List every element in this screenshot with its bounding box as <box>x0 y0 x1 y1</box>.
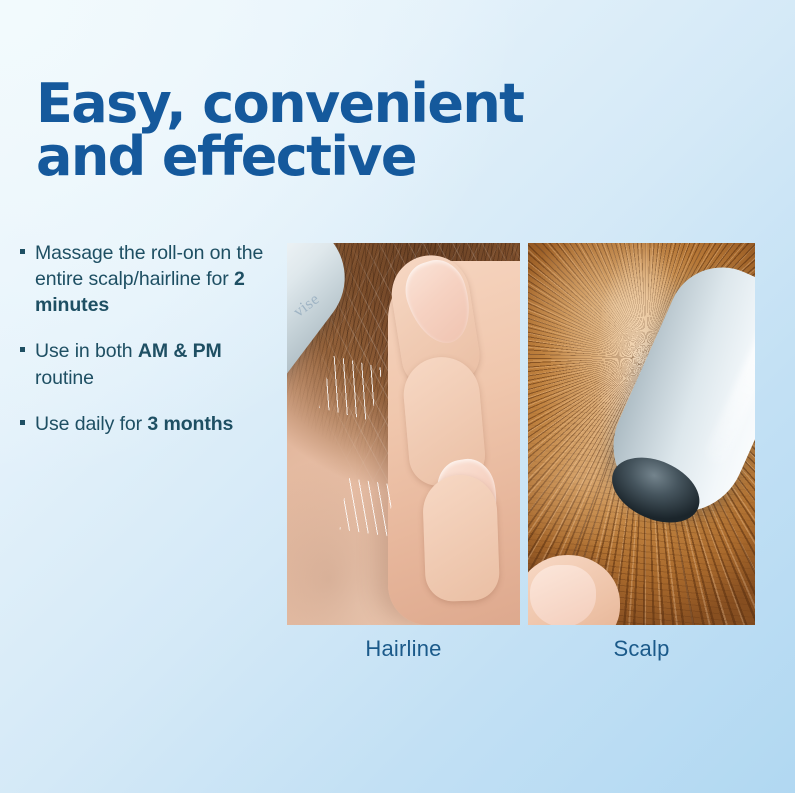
bullet-square-icon <box>20 347 25 352</box>
caption-hairline: Hairline <box>287 636 520 662</box>
instruction-list: Massage the roll-on on the entire scalp/… <box>18 240 280 437</box>
list-item-text: Use in both AM & PM routine <box>35 340 222 388</box>
list-item-text: Massage the roll-on on the entire scalp/… <box>35 242 263 316</box>
hair-strand-overlay <box>340 478 395 536</box>
headline-line-2: and effective <box>36 131 556 184</box>
bullet-square-icon <box>20 420 25 425</box>
page-title: Easy, convenient and effective <box>36 78 556 184</box>
list-item-text: Use daily for 3 months <box>35 413 233 435</box>
list-item: Massage the roll-on on the entire scalp/… <box>18 240 280 318</box>
fingernail <box>398 253 481 351</box>
hand <box>388 261 520 625</box>
infographic-page: Easy, convenient and effective Massage t… <box>0 0 795 793</box>
finger <box>401 354 488 488</box>
photo-hairline: vise <box>287 243 520 625</box>
list-item: Use daily for 3 months <box>18 411 280 437</box>
photo-scalp <box>528 243 755 625</box>
caption-scalp: Scalp <box>528 636 755 662</box>
list-item: Use in both AM & PM routine <box>18 338 280 390</box>
applicator-highlight <box>703 311 755 466</box>
bullet-square-icon <box>20 249 25 254</box>
thumbnail <box>530 565 596 625</box>
finger <box>422 474 500 603</box>
